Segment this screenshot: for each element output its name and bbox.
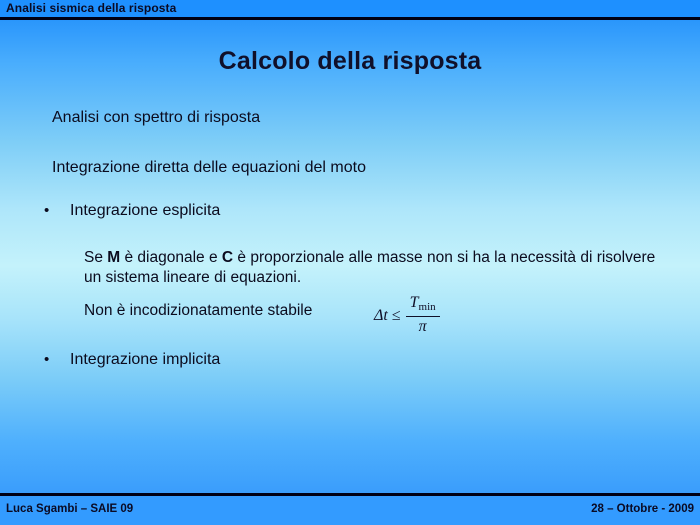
slide-header-title: Analisi sismica della risposta xyxy=(6,1,176,15)
formula-delta-t-condition: Δt ≤ Tmin π xyxy=(374,296,440,336)
formula-numerator: Tmin xyxy=(407,295,439,316)
content-line-integrazione-diretta: Integrazione diretta delle equazioni del… xyxy=(52,158,366,178)
content-line-analisi-spettro: Analisi con spettro di risposta xyxy=(52,108,260,128)
bullet-dot-icon: • xyxy=(44,350,70,369)
formula-numerator-base: T xyxy=(410,294,419,311)
paragraph-symbol-m: M xyxy=(107,249,120,266)
paragraph-symbol-c: C xyxy=(222,249,233,266)
bullet-label-integrazione-esplicita: Integrazione esplicita xyxy=(70,201,220,220)
bullet-item-integrazione-implicita: • Integrazione implicita xyxy=(44,350,220,369)
formula-fraction: Tmin π xyxy=(406,295,440,335)
formula-numerator-subscript: min xyxy=(419,301,436,313)
footer-author-event: Luca Sgambi – SAIE 09 xyxy=(6,503,133,515)
paragraph-text-part-1: Se xyxy=(84,249,107,266)
formula-relation-leq: ≤ xyxy=(392,307,406,325)
bullet-label-integrazione-implicita: Integrazione implicita xyxy=(70,350,220,369)
formula-lhs-delta-t: Δt xyxy=(374,307,392,325)
footer-date: 28 – Ottobre - 2009 xyxy=(591,503,694,515)
bullet-item-integrazione-esplicita: • Integrazione esplicita xyxy=(44,201,220,220)
presentation-slide: Analisi sismica della risposta Calcolo d… xyxy=(0,0,700,525)
bullet-dot-icon: • xyxy=(44,201,70,220)
paragraph-text-part-2: è diagonale e xyxy=(120,249,222,266)
paragraph-condizioni-matrici: Se M è diagonale e C è proporzionale all… xyxy=(84,248,664,288)
formula-denominator: π xyxy=(419,317,427,335)
note-stabilita: Non è incodizionatamente stabile xyxy=(84,301,312,321)
page-title: Calcolo della risposta xyxy=(0,47,700,76)
